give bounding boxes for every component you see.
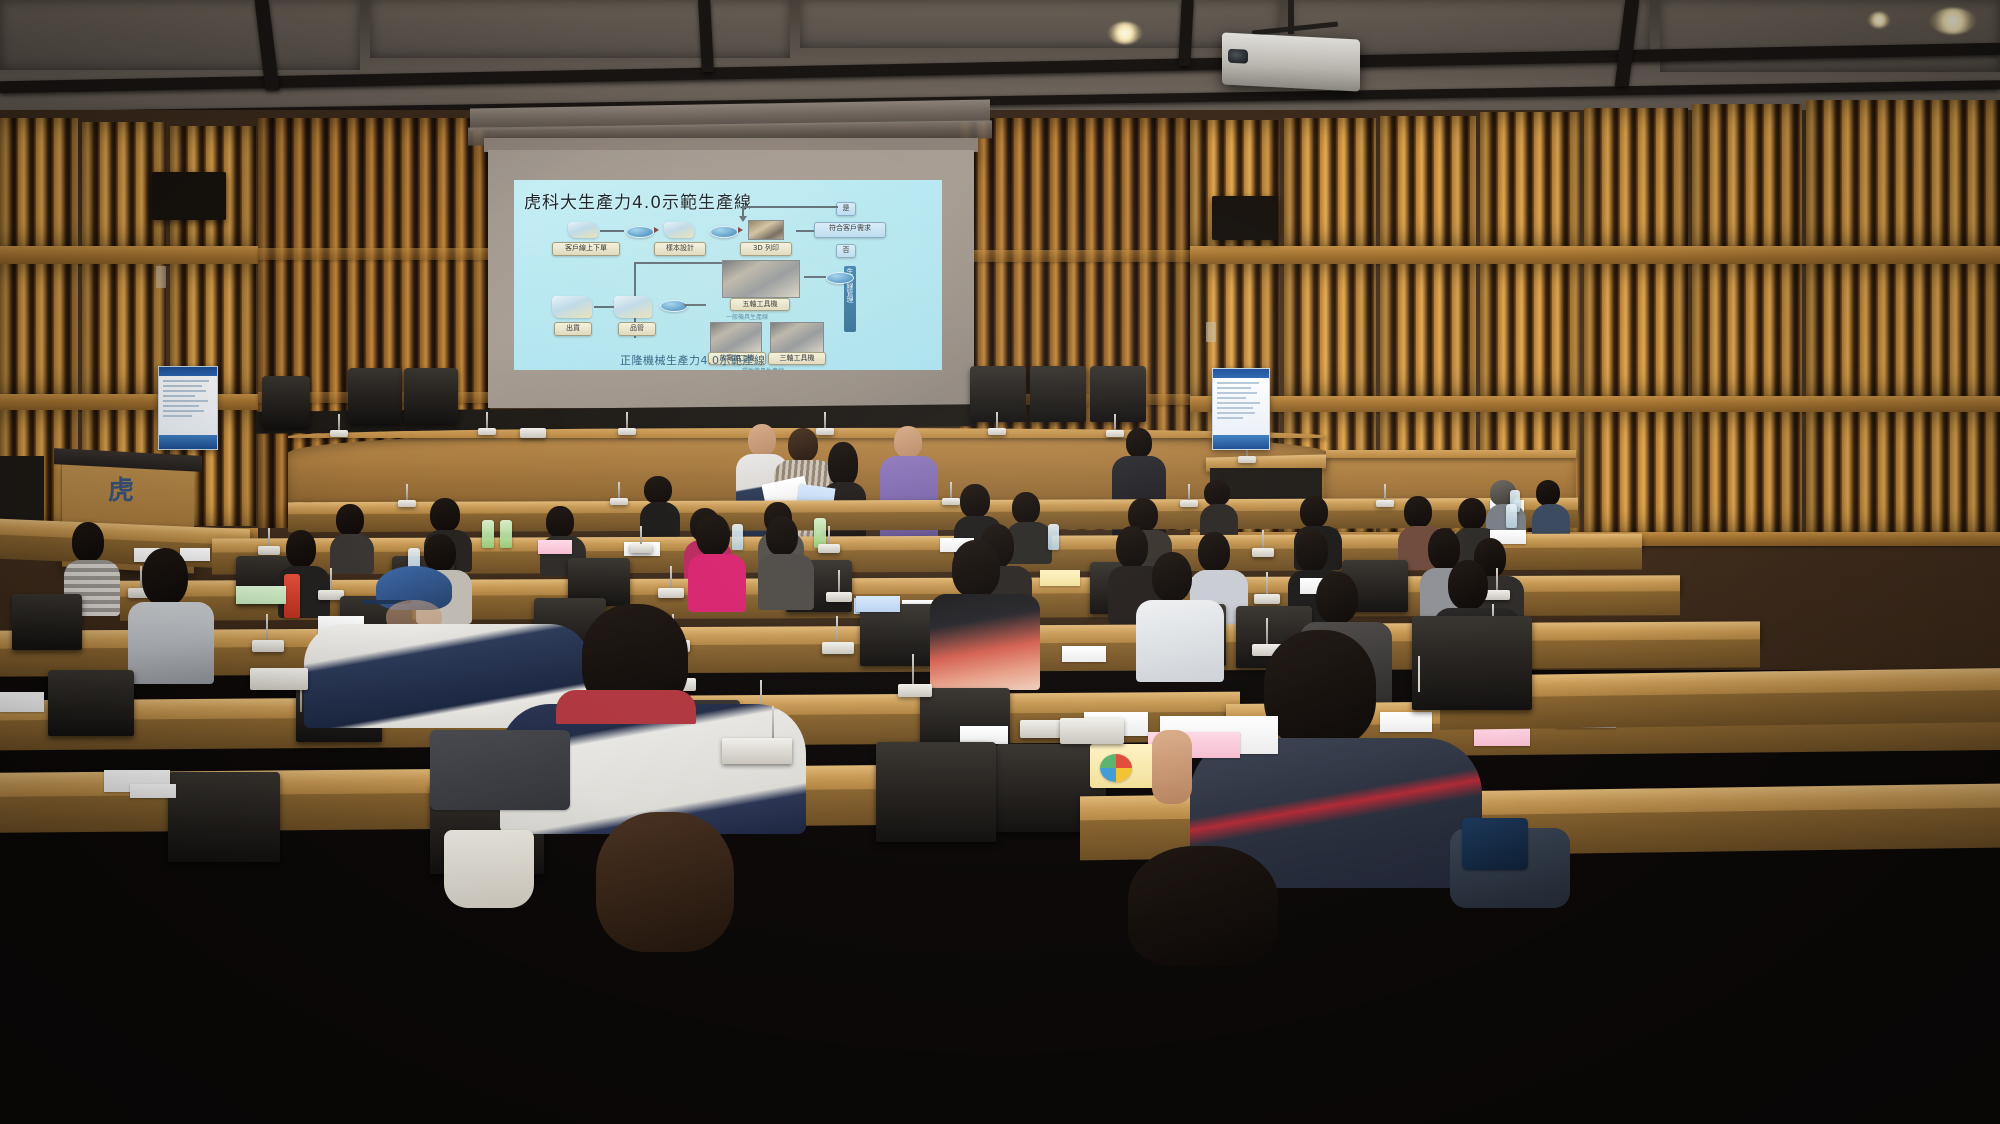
slide-flow-line <box>600 230 624 232</box>
slide-icon-ship <box>552 296 592 318</box>
wood-slat-block <box>1480 264 1580 396</box>
slide-node-3dprint: 3D 列印 <box>740 242 792 256</box>
wood-slat-block <box>1380 116 1476 246</box>
podium-logo: 虎 <box>108 470 134 507</box>
wood-slat-block <box>0 264 78 394</box>
slide-photo-3dprint <box>748 220 784 240</box>
slide-branch-yes: 是 <box>836 202 856 216</box>
desk-microphone[interactable] <box>1254 594 1280 604</box>
slide-pill-connector <box>710 226 738 238</box>
seat-back-red <box>556 690 696 724</box>
slide-arrow-icon <box>739 216 747 222</box>
slide-note-general-line: 一般機具生產線 <box>726 312 768 321</box>
presentation-slide: 虎科大生產力4.0示範生產線 客戶線上下單 樣本設計 3D 列印 符合客戶需求 … <box>514 180 942 370</box>
handout-paper[interactable] <box>1062 646 1106 662</box>
auditorium-chair <box>168 772 280 862</box>
wood-band <box>258 248 490 260</box>
tablet-device[interactable] <box>856 596 900 612</box>
water-bottle[interactable] <box>1048 524 1059 550</box>
water-bottle[interactable] <box>1506 504 1517 528</box>
left-wall-poster <box>158 366 218 450</box>
poster-footer-bar <box>159 435 217 449</box>
wood-band <box>0 246 258 264</box>
projector-lens-icon <box>1228 49 1248 64</box>
handout-paper[interactable] <box>0 692 44 712</box>
poster-text-lines <box>1217 382 1265 422</box>
wall-plate <box>1206 322 1216 342</box>
desk-microphone[interactable] <box>630 544 652 553</box>
slide-photo-3axis <box>770 322 824 354</box>
ceiling-panel <box>370 0 790 58</box>
wood-slat-block <box>82 264 166 394</box>
mic-stem <box>1418 656 1420 692</box>
desk-microphone[interactable] <box>1376 500 1394 507</box>
ceiling-light <box>1930 8 1976 34</box>
wood-slat-block <box>1380 264 1476 396</box>
handout-paper[interactable] <box>1040 570 1080 586</box>
lecture-hall-photo: 虎科大生產力4.0示範生產線 客戶線上下單 樣本設計 3D 列印 符合客戶需求 … <box>0 0 2000 1124</box>
wood-slat-block <box>0 118 78 246</box>
slide-node-ship: 出貨 <box>554 322 592 336</box>
poster-footer-bar <box>1213 435 1269 449</box>
right-wall-poster <box>1212 368 1270 450</box>
auditorium-chair <box>12 594 82 650</box>
slide-photo-5axis <box>722 260 800 298</box>
stage-microphone[interactable] <box>618 428 636 435</box>
wood-slat-block <box>1806 100 2000 246</box>
slide-photo-edm <box>710 322 762 354</box>
wall-plate <box>156 266 166 288</box>
side-microphone[interactable] <box>1238 456 1256 463</box>
wood-slat-block <box>1806 412 2000 532</box>
wood-slat-block <box>1584 108 1688 246</box>
wood-slat-block <box>1692 412 1802 532</box>
mic-stem <box>912 654 914 688</box>
desk-microphone[interactable] <box>1484 590 1510 600</box>
desk-microphone[interactable] <box>826 592 852 602</box>
wood-band <box>960 250 1190 262</box>
handout-paper[interactable] <box>236 586 286 604</box>
wood-band <box>0 394 258 410</box>
ceiling-panel <box>800 0 1280 48</box>
handout-paper[interactable] <box>130 784 176 798</box>
slide-node-requirement: 符合客戶需求 <box>814 222 886 238</box>
slide-flow-line <box>804 276 826 278</box>
desk-microphone[interactable] <box>250 668 308 690</box>
draped-jacket <box>430 730 570 810</box>
wood-slat-block <box>1284 264 1376 396</box>
handout-paper[interactable] <box>1380 712 1432 732</box>
auditorium-chair <box>860 604 936 666</box>
pie-chart-icon <box>1100 754 1132 782</box>
desk-microphone[interactable] <box>1252 548 1274 557</box>
wood-slat-block <box>1692 264 1802 396</box>
slide-pill-connector <box>826 272 854 284</box>
ceiling-light <box>1868 12 1890 28</box>
ceiling-light <box>1108 22 1142 44</box>
stage-chair <box>1090 366 1146 422</box>
auditorium-chair <box>1412 616 1532 710</box>
wood-slat-block <box>1584 264 1688 396</box>
slide-node-5axis: 五軸工具機 <box>730 298 790 311</box>
poster-header-bar <box>1213 369 1269 378</box>
water-bottle[interactable] <box>732 524 743 550</box>
desk-microphone[interactable] <box>1180 500 1198 507</box>
handout-paper[interactable] <box>180 548 210 561</box>
slide-arrow-icon <box>738 227 743 233</box>
slide-icon-design <box>664 222 694 238</box>
stage-microphone[interactable] <box>988 428 1006 435</box>
desk-microphone[interactable] <box>722 738 792 764</box>
stage-microphone[interactable] <box>330 430 348 437</box>
wall-speaker <box>152 172 226 220</box>
slide-arrow-icon <box>654 227 659 233</box>
slide-flow-line <box>684 304 706 306</box>
slide-node-3axis: 三軸工具機 <box>768 352 826 365</box>
slide-icon-order <box>568 222 598 238</box>
desk-microphone[interactable] <box>398 500 416 507</box>
tote-bag[interactable] <box>444 830 534 908</box>
desk-microphone[interactable] <box>942 498 960 505</box>
stage-microphone[interactable] <box>478 428 496 435</box>
stage-control-box[interactable] <box>520 428 546 438</box>
wood-slat-block <box>1584 412 1688 532</box>
wood-slat-block <box>1806 264 2000 396</box>
water-bottle[interactable] <box>482 520 494 548</box>
wood-slat-block <box>1284 118 1376 246</box>
desk-microphone[interactable] <box>610 498 628 505</box>
ceiling-panel <box>0 0 360 70</box>
desk-microphone[interactable] <box>252 640 284 652</box>
poster-text-lines <box>163 380 213 420</box>
stage-chair <box>404 368 458 424</box>
slide-pill-connector <box>660 300 688 312</box>
slide-node-order: 客戶線上下單 <box>552 242 620 256</box>
water-bottle[interactable] <box>500 520 512 548</box>
desk-microphone[interactable] <box>658 588 684 598</box>
slide-flow-line <box>634 262 724 264</box>
slide-caption: 正隆機械生產力4.0示範產線 <box>620 352 766 368</box>
slide-title: 虎科大生產力4.0示範生產線 <box>524 188 752 213</box>
slide-node-design: 樣本設計 <box>654 242 706 256</box>
slide-node-qc: 品管 <box>618 322 656 336</box>
stage-microphone[interactable] <box>816 428 834 435</box>
auditorium-chair <box>876 742 996 842</box>
ceiling-projector <box>1222 32 1360 91</box>
wood-slat-block <box>1480 112 1580 246</box>
smartphone-screen[interactable] <box>1462 818 1528 870</box>
wood-slat-block <box>1692 104 1802 246</box>
stage-microphone[interactable] <box>1106 430 1124 437</box>
desk-microphone[interactable] <box>898 684 932 697</box>
stage-chair <box>1030 366 1086 422</box>
desk-microphone[interactable] <box>1060 718 1124 744</box>
desk-microphone[interactable] <box>818 544 840 553</box>
wood-band <box>1190 246 2000 264</box>
stage-rail <box>1326 450 1576 458</box>
handout-paper[interactable] <box>538 540 572 554</box>
thermos-bottle[interactable] <box>284 574 300 618</box>
desk-microphone[interactable] <box>822 642 854 654</box>
stage-chair <box>348 368 402 424</box>
slide-icon-qc <box>614 296 652 318</box>
wall-speaker <box>1212 196 1278 240</box>
slide-flow-line <box>594 306 614 308</box>
auditorium-chair <box>48 670 134 736</box>
poster-header-bar <box>159 367 217 376</box>
wood-band <box>1190 396 2000 412</box>
projection-screen: 虎科大生產力4.0示範生產線 客戶線上下單 樣本設計 3D 列印 符合客戶需求 … <box>488 150 974 408</box>
slide-pill-connector <box>626 226 654 238</box>
stage-chair <box>262 376 310 428</box>
slide-branch-no: 否 <box>836 244 856 258</box>
desk-microphone[interactable] <box>258 546 280 555</box>
stage-chair <box>970 366 1026 422</box>
slide-flow-line <box>742 206 838 208</box>
